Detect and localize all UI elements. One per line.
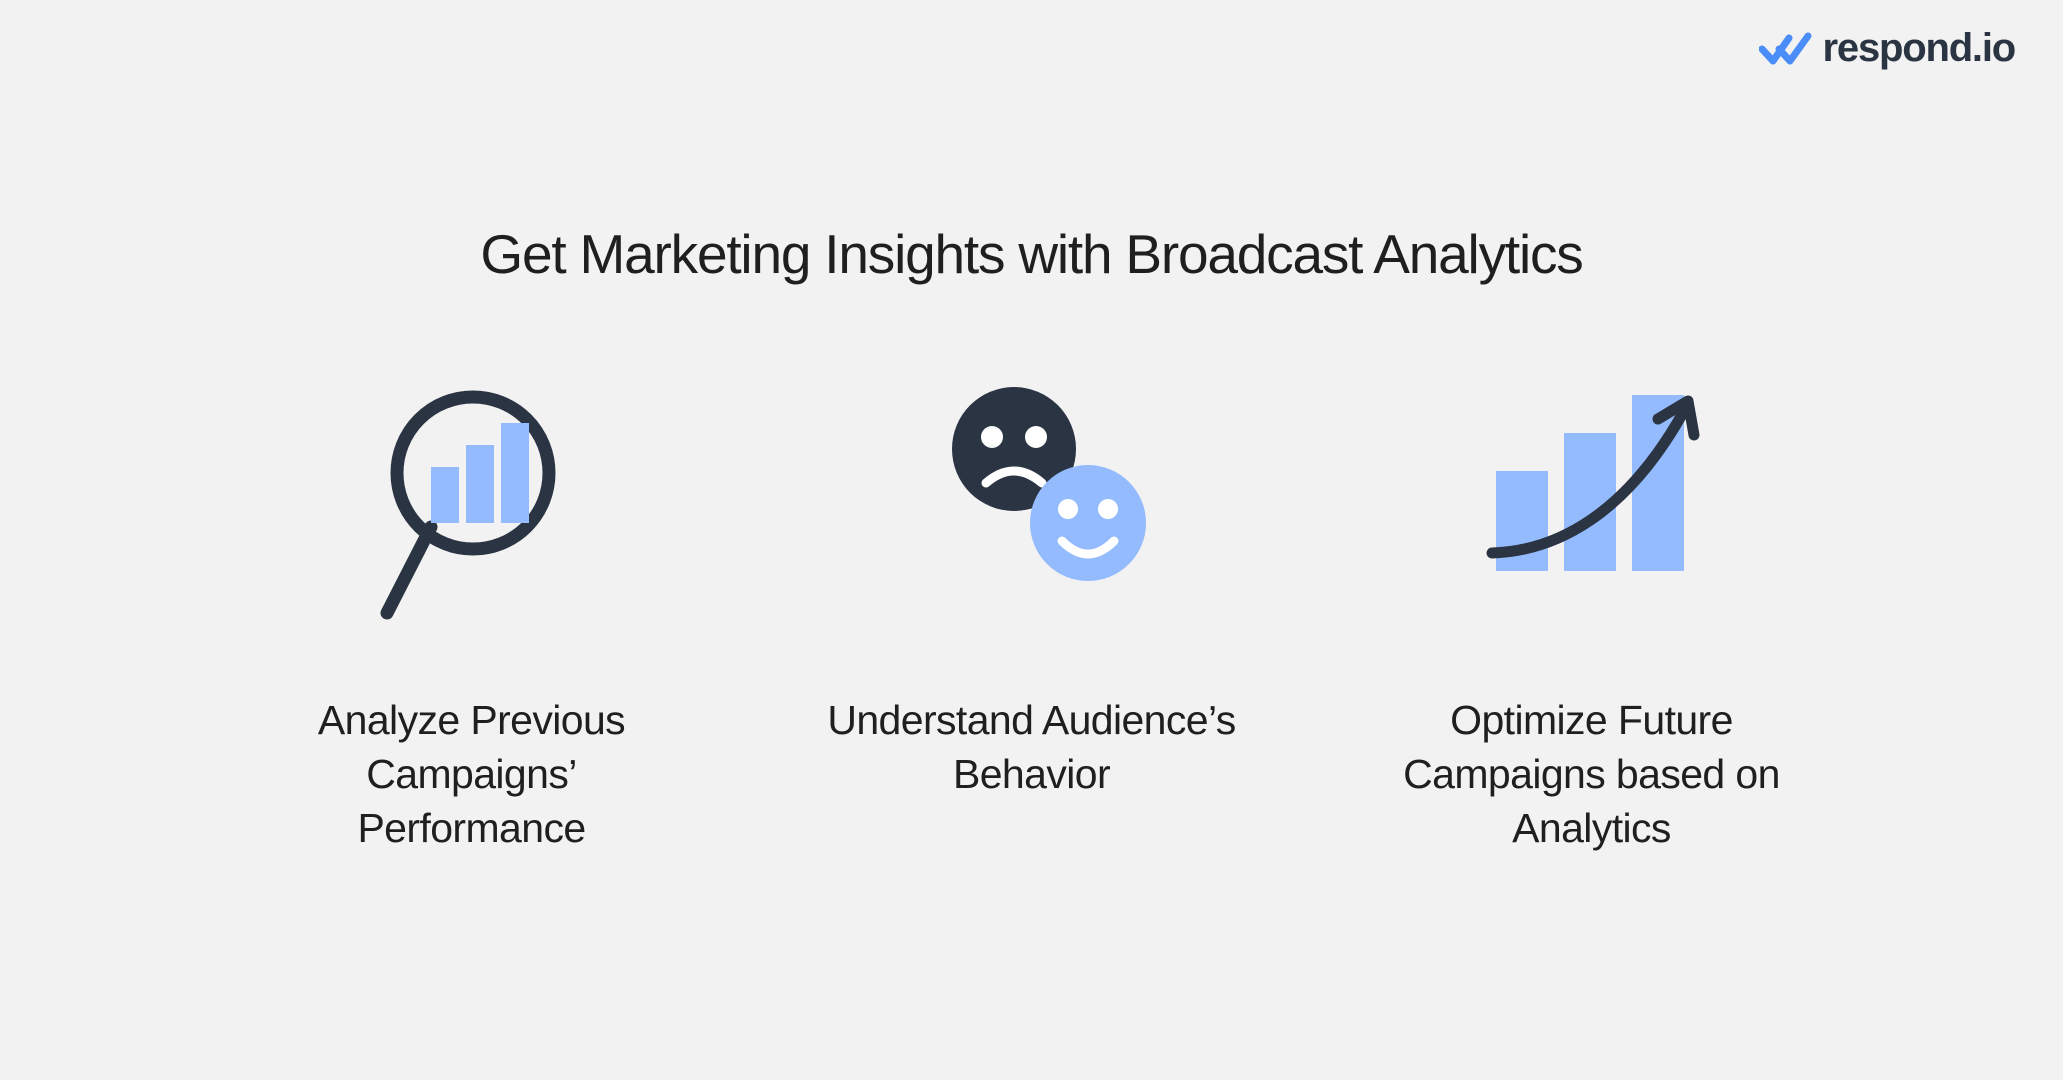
magnifier-bar-chart-icon [369, 375, 569, 635]
feature-caption: Understand Audience’s Behavior [822, 693, 1242, 801]
feature-columns: Analyze Previous Campaigns’ Performance [0, 375, 2063, 855]
brand-name: respond.io [1823, 28, 2015, 68]
icon-container [192, 375, 752, 665]
double-check-icon [1759, 28, 1813, 68]
feature-column-analyze: Analyze Previous Campaigns’ Performance [192, 375, 752, 855]
feature-column-optimize: Optimize Future Campaigns based on Analy… [1312, 375, 1872, 855]
sad-happy-faces-icon [944, 381, 1154, 591]
feature-caption: Analyze Previous Campaigns’ Performance [262, 693, 682, 855]
happy-face-icon [1030, 465, 1146, 581]
feature-column-understand: Understand Audience’s Behavior [752, 375, 1312, 801]
feature-caption: Optimize Future Campaigns based on Analy… [1382, 693, 1802, 855]
brand-logo: respond.io [1759, 28, 2015, 68]
icon-container [752, 375, 1312, 665]
icon-container [1312, 375, 1872, 665]
growth-bar-chart-arrow-icon [1486, 375, 1726, 575]
page-title: Get Marketing Insights with Broadcast An… [0, 223, 2063, 286]
